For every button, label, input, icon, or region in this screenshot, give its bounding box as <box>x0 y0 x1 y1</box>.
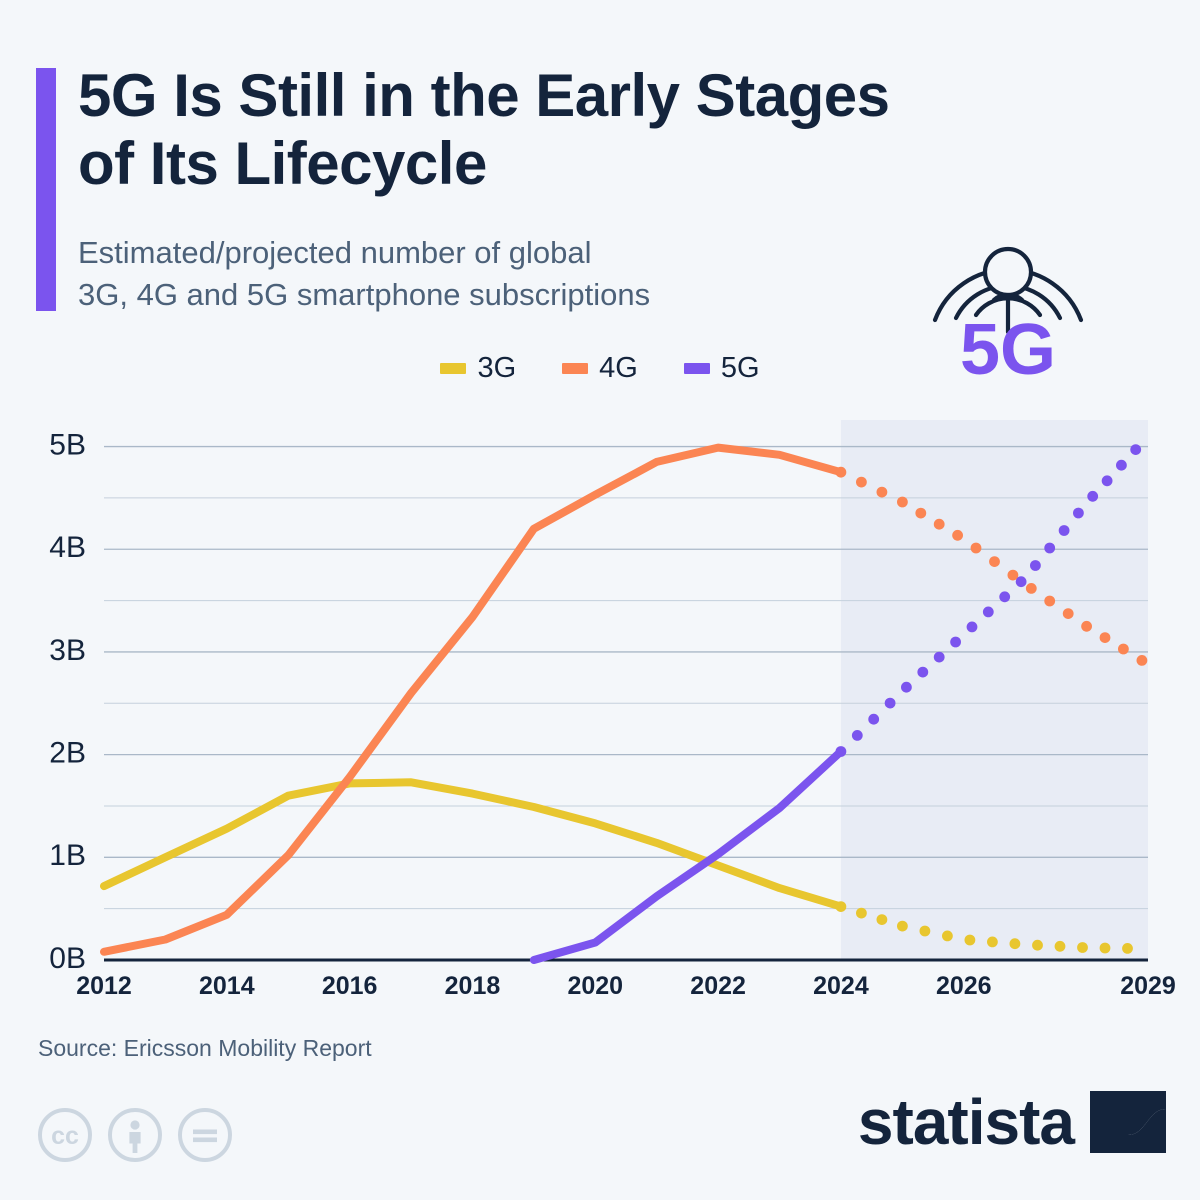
x-axis-tick-label: 2029 <box>1120 972 1176 1000</box>
chart-canvas: 0B1B2B3B4B5B2012201420162018202020222024… <box>0 400 1200 1010</box>
series-dot-4g <box>1063 608 1074 619</box>
source-note: Source: Ericsson Mobility Report <box>38 1035 372 1062</box>
page-subtitle: Estimated/projected number of global 3G,… <box>78 232 878 316</box>
series-dot-5g <box>1102 475 1113 486</box>
series-dot-5g <box>885 698 896 709</box>
series-dot-5g <box>1073 508 1084 519</box>
series-dot-3g <box>1010 938 1021 949</box>
series-dot-5g <box>934 652 945 663</box>
series-dot-3g <box>1077 942 1088 953</box>
legend-item-5g[interactable]: 5G <box>684 352 760 385</box>
series-dot-5g <box>852 730 863 741</box>
series-dot-3g <box>942 931 953 942</box>
series-dot-5g <box>950 637 961 648</box>
series-dot-5g <box>836 746 847 757</box>
series-dot-3g <box>1100 943 1111 954</box>
infographic-root: 5G Is Still in the Early Stages of Its L… <box>0 0 1200 1200</box>
x-axis-tick-label: 2026 <box>936 972 992 1000</box>
series-dot-5g <box>917 667 928 678</box>
series-dot-5g <box>967 622 978 633</box>
legend-swatch-5g <box>684 363 710 374</box>
x-axis-tick-label: 2014 <box>199 972 255 1000</box>
series-dot-5g <box>901 682 912 693</box>
series-dot-5g <box>1087 491 1098 502</box>
statista-mark-icon <box>1090 1091 1166 1153</box>
series-dot-3g <box>1055 941 1066 952</box>
legend-label-5g: 5G <box>721 352 760 385</box>
creative-commons-icons: cc <box>36 1106 234 1164</box>
series-dot-3g <box>856 908 867 919</box>
series-dot-4g <box>897 497 908 508</box>
series-dot-4g <box>1118 644 1129 655</box>
series-dot-5g <box>999 591 1010 602</box>
legend-label-3g: 3G <box>477 352 516 385</box>
series-dot-3g <box>877 914 888 925</box>
series-dot-3g <box>965 935 976 946</box>
x-axis-tick-label: 2018 <box>445 972 501 1000</box>
series-dot-4g <box>1137 655 1148 666</box>
series-dot-4g <box>836 467 847 478</box>
statista-logo: statista <box>858 1090 1166 1154</box>
legend-swatch-4g <box>562 363 588 374</box>
forecast-shaded-region <box>841 420 1148 960</box>
series-dot-4g <box>1026 583 1037 594</box>
series-dot-5g <box>1044 543 1055 554</box>
y-axis-tick-label: 1B <box>49 839 86 872</box>
series-dot-3g <box>1122 943 1133 954</box>
legend-swatch-3g <box>440 363 466 374</box>
y-axis-tick-label: 5B <box>49 428 86 461</box>
series-dot-4g <box>915 508 926 519</box>
series-dot-3g <box>987 937 998 948</box>
series-line-4g-solid <box>104 448 841 952</box>
x-axis-tick-label: 2024 <box>813 972 869 1000</box>
series-dot-4g <box>989 556 1000 567</box>
series-dot-3g <box>920 926 931 937</box>
series-dot-4g <box>971 543 982 554</box>
legend-item-3g[interactable]: 3G <box>440 352 516 385</box>
nd-equals-icon <box>176 1106 234 1164</box>
series-dot-3g <box>836 901 847 912</box>
y-axis-tick-label: 2B <box>49 737 86 770</box>
series-dot-5g <box>983 607 994 618</box>
x-axis-tick-label: 2016 <box>322 972 378 1000</box>
cell-antenna-icon: 5G <box>908 172 1108 382</box>
series-dot-3g <box>1032 940 1043 951</box>
y-axis-tick-label: 4B <box>49 531 86 564</box>
series-dot-5g <box>1030 560 1041 571</box>
series-dot-4g <box>856 477 867 488</box>
legend-label-4g: 4G <box>599 352 638 385</box>
series-dot-4g <box>952 530 963 541</box>
series-dot-4g <box>1100 632 1111 643</box>
cc-icon: cc <box>36 1106 94 1164</box>
series-dot-3g <box>897 921 908 932</box>
title-accent-bar <box>36 68 56 311</box>
svg-text:cc: cc <box>51 1122 79 1150</box>
x-axis-tick-label: 2022 <box>690 972 746 1000</box>
series-dot-5g <box>1016 576 1027 587</box>
x-axis-tick-label: 2012 <box>76 972 132 1000</box>
x-axis-tick-label: 2020 <box>567 972 623 1000</box>
series-dot-5g <box>1059 525 1070 536</box>
chart-legend: 3G 4G 5G <box>0 352 1200 385</box>
series-dot-5g <box>868 714 879 725</box>
legend-item-4g[interactable]: 4G <box>562 352 638 385</box>
series-dot-4g <box>1081 621 1092 632</box>
series-dot-4g <box>934 519 945 530</box>
statista-wordmark: statista <box>858 1090 1074 1154</box>
y-axis-tick-label: 0B <box>49 942 86 975</box>
series-dot-4g <box>1044 596 1055 607</box>
by-person-icon <box>106 1106 164 1164</box>
y-axis-tick-label: 3B <box>49 634 86 667</box>
series-dot-4g <box>877 487 888 498</box>
line-chart: 0B1B2B3B4B5B2012201420162018202020222024… <box>0 400 1200 1010</box>
series-dot-5g <box>1116 460 1127 471</box>
series-dot-5g <box>1130 444 1141 455</box>
